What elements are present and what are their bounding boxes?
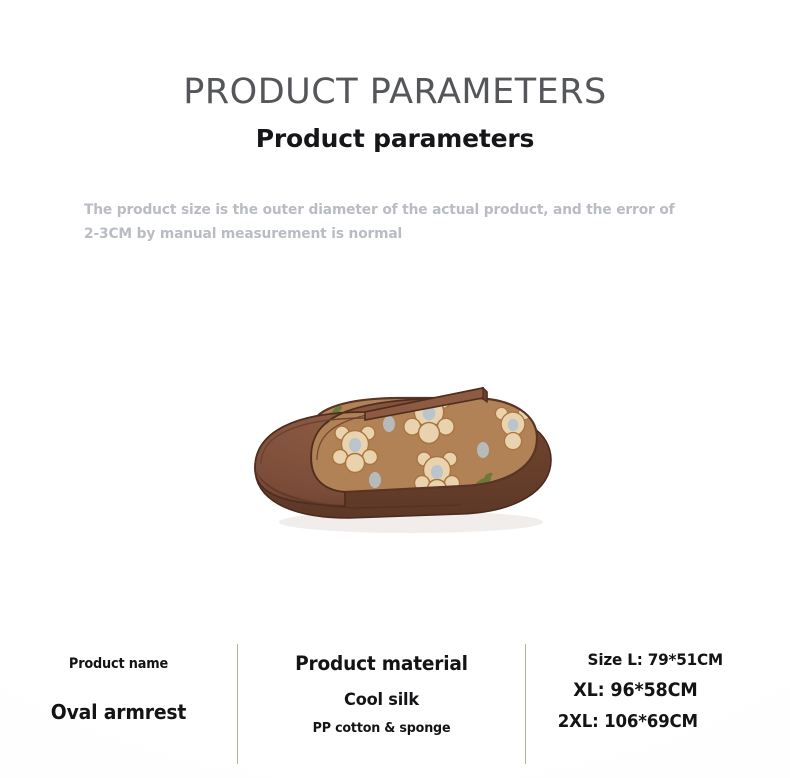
product-material-filling: PP cotton & sponge xyxy=(247,720,517,736)
bolster-cut-end xyxy=(483,388,487,402)
spec-column-product-name: Product name Oval armrest xyxy=(0,628,237,778)
product-name-value: Oval armrest xyxy=(7,700,230,724)
spec-column-product-size: Size L: 79*51CM XL: 96*58CM 2XL: 106*69C… xyxy=(526,628,790,778)
page-title: PRODUCT PARAMETERS xyxy=(0,74,790,111)
spec-table: Product name Oval armrest Product materi… xyxy=(0,628,790,778)
size-option-xl: XL: 96*58CM xyxy=(573,680,697,701)
page-heading-block: PRODUCT PARAMETERS Product parameters xyxy=(0,74,790,153)
size-option-l: Size L: 79*51CM xyxy=(588,650,723,669)
product-name-label: Product name xyxy=(9,656,227,672)
product-parameters-page: PRODUCT PARAMETERS Product parameters Th… xyxy=(0,0,790,778)
spec-column-product-material: Product material Cool silk PP cotton & s… xyxy=(238,628,525,778)
page-subtitle: Product parameters xyxy=(0,124,790,153)
product-material-label: Product material xyxy=(245,652,518,675)
product-material-value: Cool silk xyxy=(245,690,518,710)
size-option-2xl: 2XL: 106*69CM xyxy=(558,712,698,732)
product-illustration xyxy=(225,372,560,544)
size-disclaimer-text: The product size is the outer diameter o… xyxy=(84,198,675,247)
pet-bed-drawing xyxy=(225,372,560,544)
